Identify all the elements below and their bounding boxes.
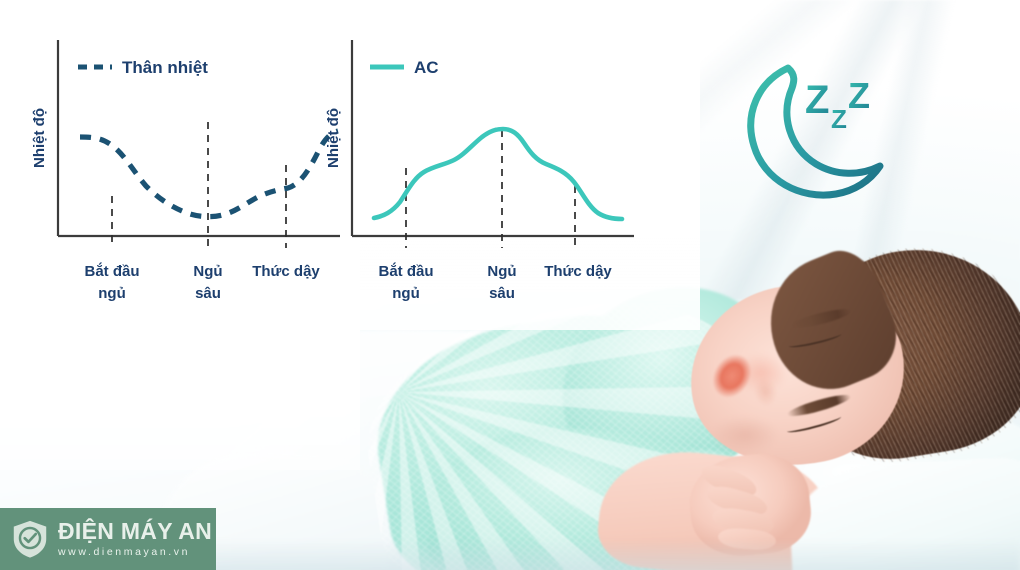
ac-chart: Nhiệt độ AC Bắt đầu ngủ Ngủ sâu Thức dậy bbox=[325, 40, 634, 302]
shield-check-icon bbox=[9, 518, 51, 560]
x-label-start-sleep-line2: ngủ bbox=[98, 285, 126, 302]
z-letter-large: Z bbox=[805, 78, 829, 122]
logo-text-block: ĐIỆN MÁY AN www.dienmayan.vn bbox=[58, 520, 212, 558]
x-label-deep-sleep-line2: sâu bbox=[489, 285, 515, 302]
x-label-start-sleep-line1: Bắt đầu bbox=[84, 262, 139, 280]
moon-zzz-svg: Z Z Z bbox=[742, 58, 892, 218]
x-label-deep-sleep-line1: Ngủ bbox=[193, 263, 222, 280]
body-temperature-series bbox=[80, 131, 338, 217]
ac-series bbox=[374, 129, 622, 219]
z-letter-medium: Z bbox=[848, 75, 870, 116]
screenshot-root: Nhiệt độ Thân nhiệt Bắt đầu ngủ Ngủ sâu … bbox=[0, 0, 1020, 570]
charts-svg: Nhiệt độ Thân nhiệt Bắt đầu ngủ Ngủ sâu … bbox=[0, 0, 700, 320]
moon-zzz-icon: Z Z Z bbox=[742, 58, 892, 218]
x-label-start-sleep-line2: ngủ bbox=[392, 285, 420, 302]
legend-label-body-temperature: Thân nhiệt bbox=[122, 58, 208, 77]
x-label-wake-up: Thức dậy bbox=[252, 263, 320, 280]
logo-website-url: www.dienmayan.vn bbox=[58, 546, 212, 558]
x-label-deep-sleep-line2: sâu bbox=[195, 285, 221, 302]
x-label-deep-sleep-line1: Ngủ bbox=[487, 263, 516, 280]
chin-shadow bbox=[700, 410, 790, 460]
x-label-wake-up: Thức dậy bbox=[544, 263, 612, 280]
z-letter-small: Z bbox=[831, 104, 847, 134]
y-axis-title: Nhiệt độ bbox=[325, 108, 342, 168]
x-label-start-sleep-line1: Bắt đầu bbox=[378, 262, 433, 280]
logo-brand-name: ĐIỆN MÁY AN bbox=[58, 520, 212, 543]
body-temperature-chart: Nhiệt độ Thân nhiệt Bắt đầu ngủ Ngủ sâu … bbox=[31, 40, 340, 302]
legend-label-ac: AC bbox=[414, 58, 439, 77]
y-axis-title: Nhiệt độ bbox=[31, 108, 48, 168]
charts-container: Nhiệt độ Thân nhiệt Bắt đầu ngủ Ngủ sâu … bbox=[0, 0, 700, 320]
brand-logo[interactable]: ĐIỆN MÁY AN www.dienmayan.vn bbox=[0, 508, 216, 570]
